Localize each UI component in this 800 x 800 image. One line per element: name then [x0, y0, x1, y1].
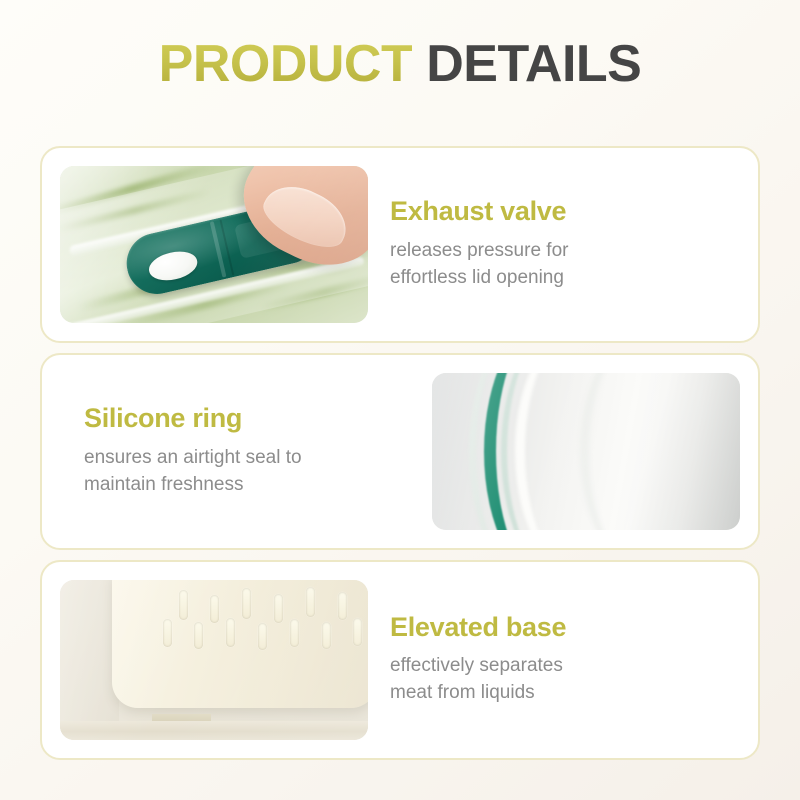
feature-text-block: Silicone ring ensures an airtight seal t…: [60, 404, 410, 499]
exhaust-valve-photo: [60, 166, 368, 323]
feature-text-block: Exhaust valve releases pressure for effo…: [390, 197, 740, 292]
elevated-base-photo: [60, 580, 368, 740]
feature-description-line: maintain freshness: [84, 472, 410, 499]
feature-description: ensures an airtight seal to maintain fre…: [84, 445, 410, 499]
silicone-ring-photo: [432, 373, 740, 530]
photo-gloss-overlay: [432, 373, 740, 530]
valve-white-dot: [146, 247, 199, 284]
feature-description-line: releases pressure for: [390, 238, 730, 265]
feature-text-block: Elevated base effectively separates meat…: [390, 613, 740, 708]
feature-description-line: meat from liquids: [390, 680, 730, 707]
page-title-accent: PRODUCT: [159, 35, 413, 93]
feature-description: releases pressure for effortless lid ope…: [390, 238, 730, 292]
feature-headline: Silicone ring: [84, 404, 410, 434]
feature-headline: Exhaust valve: [390, 197, 730, 227]
feature-card-elevated-base: Elevated base effectively separates meat…: [40, 560, 760, 760]
page-title-dark: DETAILS: [426, 35, 641, 93]
photo-gloss-overlay: [60, 580, 368, 740]
feature-description-line: effortless lid opening: [390, 265, 730, 292]
feature-card-exhaust-valve: Exhaust valve releases pressure for effo…: [40, 146, 760, 343]
feature-description-line: ensures an airtight seal to: [84, 445, 410, 472]
page-title: PRODUCTDETAILS: [0, 38, 800, 90]
feature-headline: Elevated base: [390, 613, 730, 643]
feature-description: effectively separates meat from liquids: [390, 653, 730, 707]
feature-description-line: effectively separates: [390, 653, 730, 680]
feature-card-silicone-ring: Silicone ring ensures an airtight seal t…: [40, 353, 760, 550]
